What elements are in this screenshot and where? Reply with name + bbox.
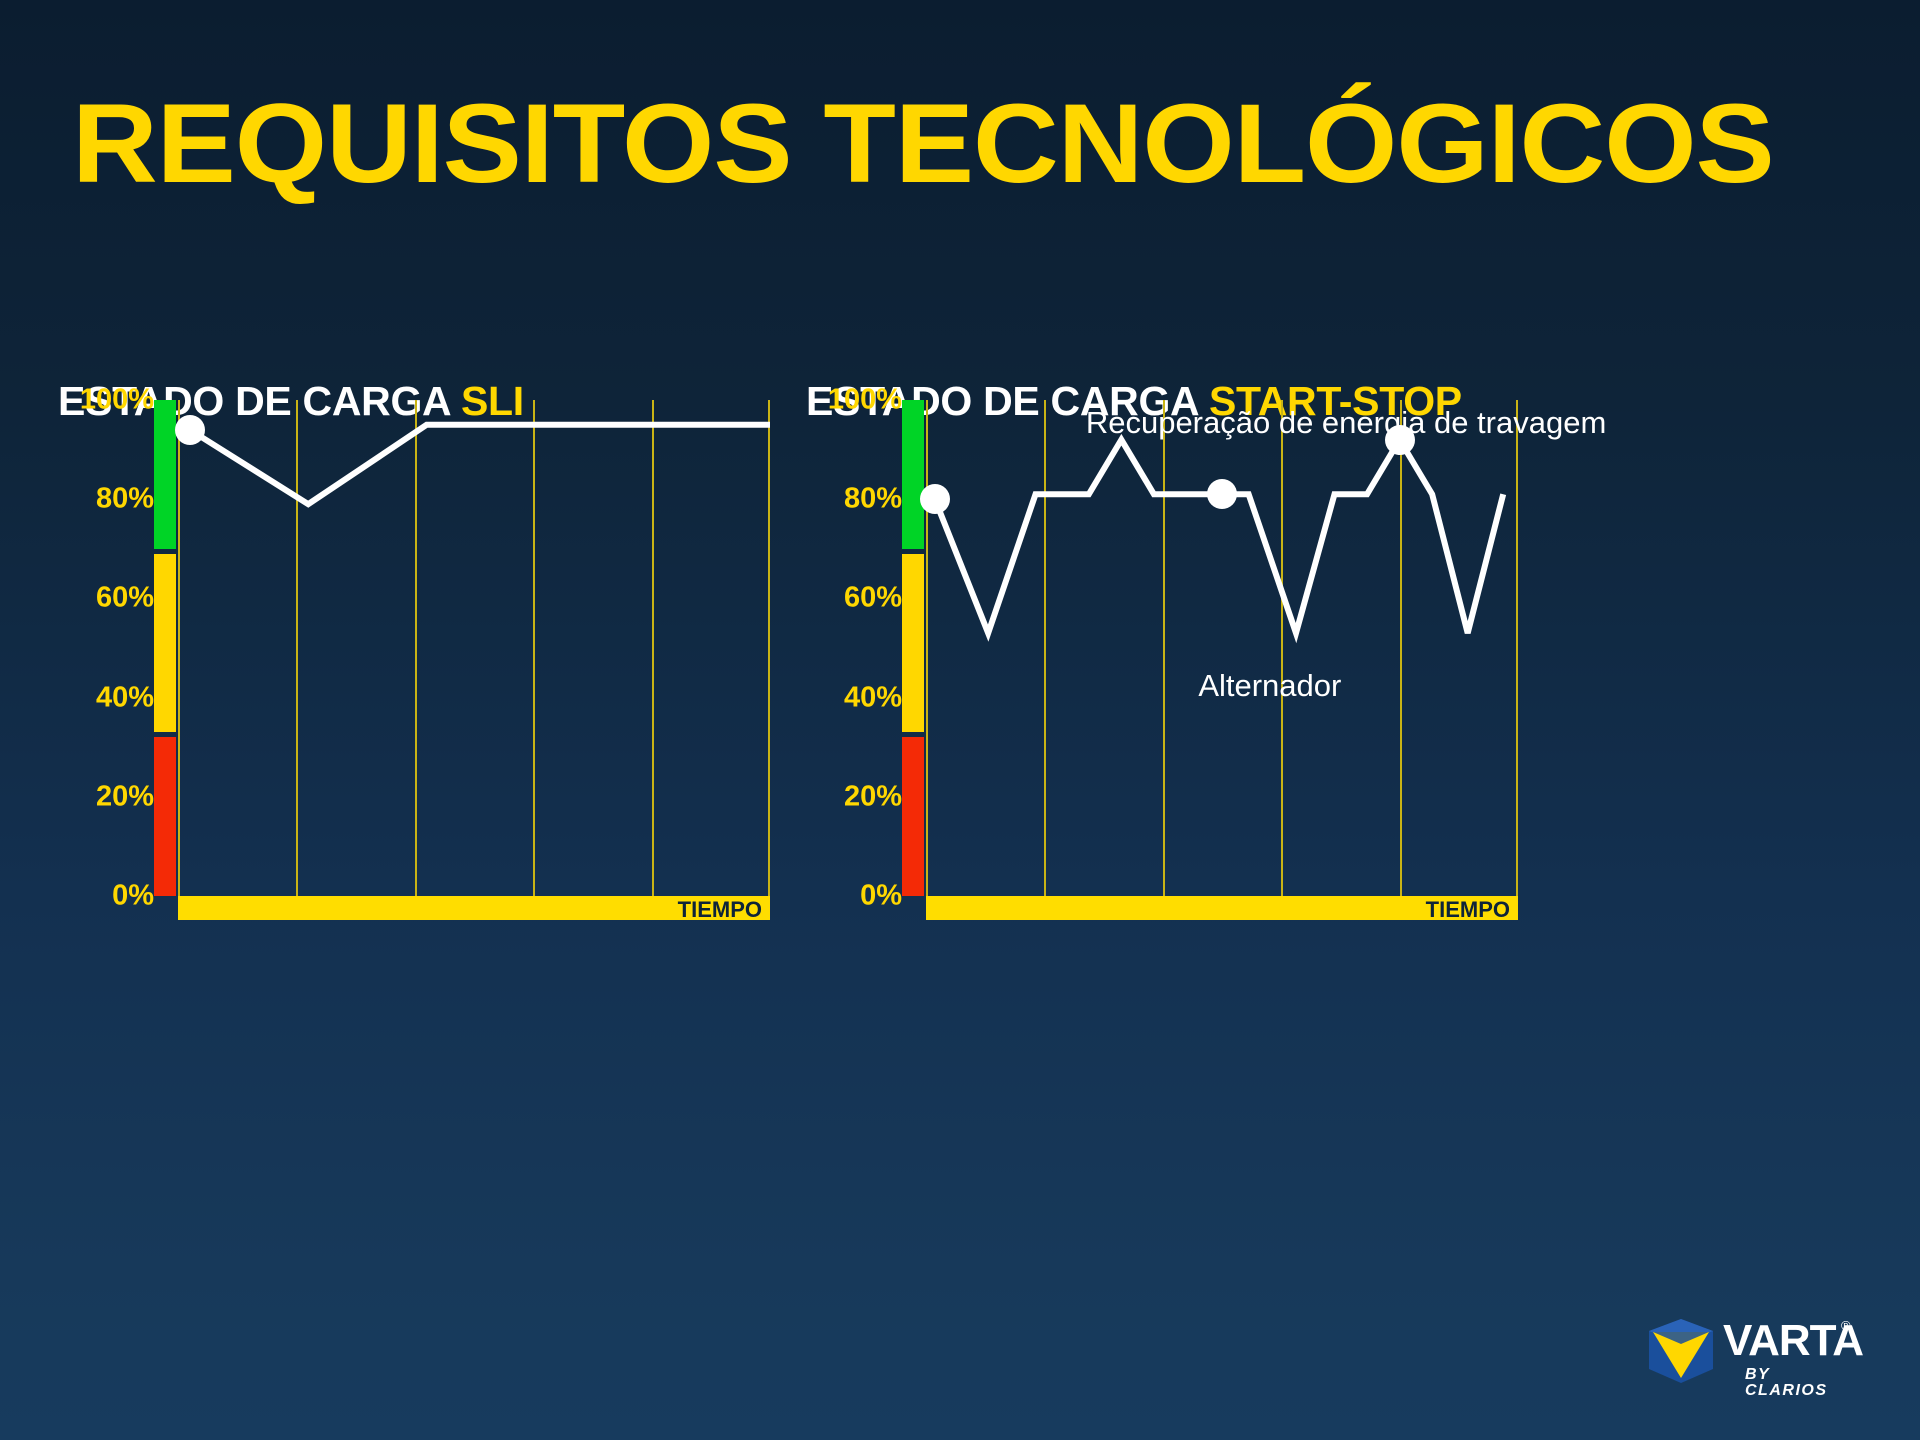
annotation-label: Recuperação de energia de travagem <box>1086 405 1606 441</box>
y-tick-label: 60% <box>96 582 154 615</box>
varta-registered-mark: ® <box>1841 1319 1851 1332</box>
y-axis-labels-sli: 0%20%40%60%80%100% <box>58 400 154 896</box>
x-axis-start-stop: TIEMPO <box>926 896 1518 920</box>
y-tick-label: 20% <box>844 780 902 813</box>
data-point-marker <box>1207 479 1237 509</box>
soc-waveform <box>926 400 1518 896</box>
soc-band-red <box>154 737 176 896</box>
varta-tagline: BY CLARIOS <box>1745 1367 1855 1399</box>
soc-colour-bar-start-stop <box>902 400 924 896</box>
soc-band-yellow <box>902 554 924 733</box>
data-point-marker <box>175 415 205 445</box>
plot-area-sli: TIEMPO <box>178 400 770 896</box>
chart-start-stop: 0%20%40%60%80%100% TIEMPO Recuperação de… <box>806 400 1518 940</box>
plot-area-start-stop: TIEMPO Recuperação de energia de travage… <box>926 400 1518 896</box>
y-tick-label: 20% <box>96 780 154 813</box>
chart-sli: 0%20%40%60%80%100% TIEMPO <box>58 400 770 940</box>
varta-cube-icon <box>1645 1315 1717 1387</box>
y-axis-labels-start-stop: 0%20%40%60%80%100% <box>806 400 902 896</box>
y-tick-label: 0% <box>112 880 154 913</box>
y-tick-label: 60% <box>844 582 902 615</box>
soc-colour-bar-sli <box>154 400 176 896</box>
y-tick-label: 0% <box>860 880 902 913</box>
soc-band-green <box>154 400 176 549</box>
data-point-marker <box>920 484 950 514</box>
y-tick-label: 100% <box>80 384 154 417</box>
soc-band-red <box>902 737 924 896</box>
soc-band-green <box>902 400 924 549</box>
x-axis-label-start-stop: TIEMPO <box>1426 897 1510 923</box>
y-tick-label: 80% <box>96 483 154 516</box>
y-tick-label: 80% <box>844 483 902 516</box>
annotation-label: Alternador <box>1198 668 1341 704</box>
soc-band-yellow <box>154 554 176 733</box>
y-tick-label: 100% <box>828 384 902 417</box>
x-axis-sli: TIEMPO <box>178 896 770 920</box>
varta-logo: VARTA ® BY CLARIOS <box>1645 1315 1855 1387</box>
soc-waveform <box>178 400 770 896</box>
y-tick-label: 40% <box>96 681 154 714</box>
y-tick-label: 40% <box>844 681 902 714</box>
